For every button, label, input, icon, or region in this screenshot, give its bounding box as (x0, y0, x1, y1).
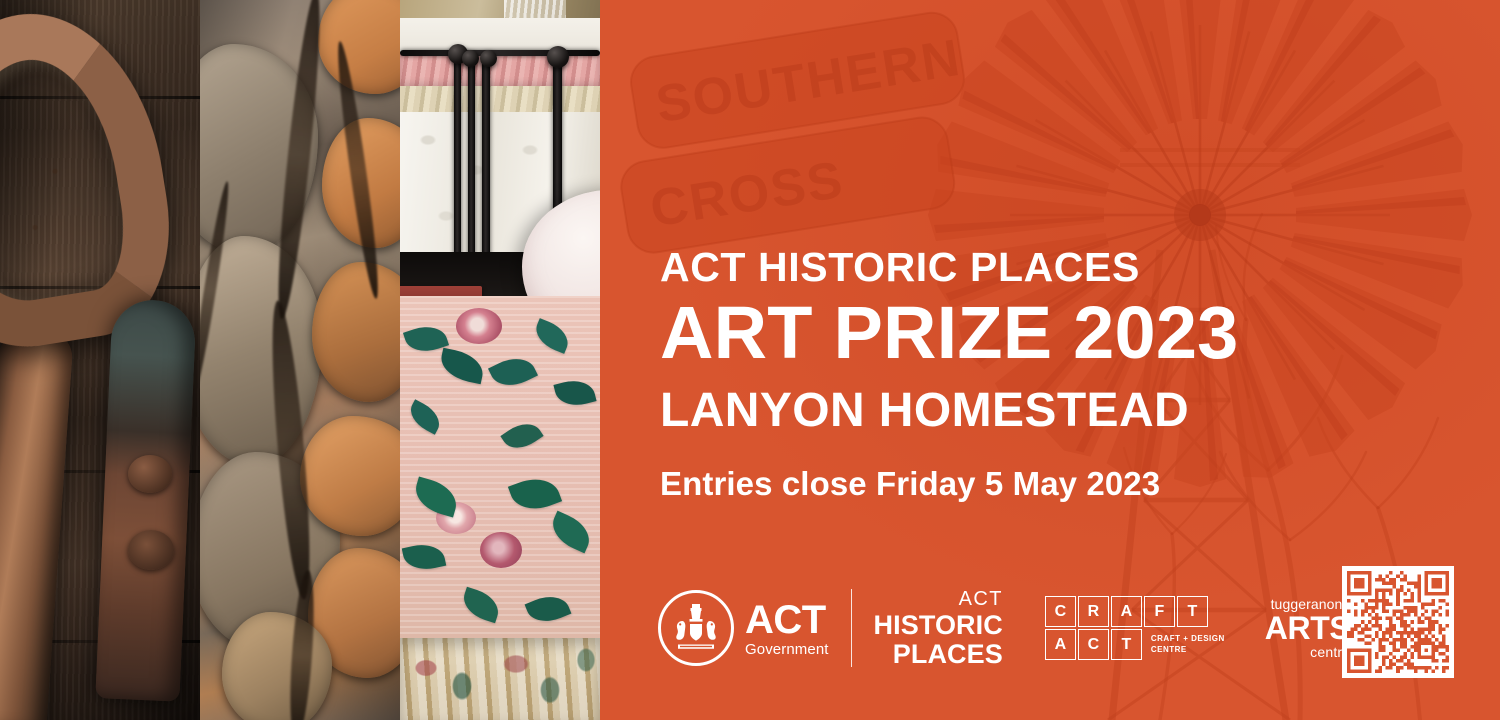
craft-letter-row-1: C R A F T (1045, 596, 1225, 627)
cream-satin-bolster (400, 86, 600, 114)
chintz-rose (480, 532, 522, 568)
act-letter-a: A (1045, 629, 1076, 660)
tool-shank (0, 328, 74, 720)
photo-strip (0, 0, 600, 720)
craft-tagline-line-1: CRAFT + DESIGN (1151, 634, 1225, 645)
bed-finial (547, 46, 569, 68)
photo-rusty-hook-on-weathered-wood (0, 0, 200, 720)
chintz-leaf (531, 318, 573, 354)
craft-letter-r: R (1078, 596, 1109, 627)
government-subtitle-text: Government (745, 642, 829, 657)
chintz-leaf (488, 350, 538, 394)
craft-letter-a: A (1111, 596, 1142, 627)
deadline-text: Entries close Friday 5 May 2023 (660, 466, 1360, 502)
chintz-leaf (553, 376, 596, 410)
craft-letter-row-2: A C T CRAFT + DESIGN CENTRE (1045, 629, 1225, 660)
craft-act-logo[interactable]: C R A F T A C T CRAFT + DESIGN CENTRE (1045, 596, 1225, 660)
chintz-leaf (411, 477, 462, 518)
tool-blade (95, 298, 196, 701)
tac-wordmark: tuggeranong ARTS centre (1265, 597, 1351, 659)
content-panel: SOUTHERN CROSS ACT HISTORIC PLACES ART P… (600, 0, 1500, 720)
chintz-leaf (402, 540, 447, 574)
chintz-leaf (500, 416, 543, 456)
tac-line-centre: centre (1265, 645, 1351, 659)
bed-finial (480, 50, 497, 67)
tac-line-arts: ARTS (1265, 612, 1351, 644)
bed-finial (462, 50, 479, 67)
craft-letter-t: T (1177, 596, 1208, 627)
qr-code[interactable] (1342, 566, 1454, 678)
act-historic-places-logo[interactable]: ACT HISTORIC PLACES (874, 589, 1003, 668)
chintz-leaf (405, 399, 445, 434)
act-letter-t: T (1111, 629, 1142, 660)
ahp-line-historic: HISTORIC (874, 612, 1003, 639)
chintz-leaf (459, 587, 503, 623)
bark-plate (312, 262, 400, 402)
headline-block: ACT HISTORIC PLACES ART PRIZE 2023 LANYO… (660, 246, 1360, 502)
title-art-prize: ART PRIZE 2023 (660, 293, 1360, 373)
act-wordmark-text: ACT (745, 600, 829, 640)
craft-letter-f: F (1144, 596, 1175, 627)
tool-rivet (128, 530, 174, 570)
chintz-leaf (438, 348, 487, 385)
photo-historic-bedroom (400, 0, 600, 720)
bark-plate (222, 612, 332, 720)
pink-satin-bolster (400, 52, 600, 88)
craft-letter-c: C (1045, 596, 1076, 627)
act-government-logo[interactable]: ACT Government (658, 586, 829, 670)
act-letter-c: C (1078, 629, 1109, 660)
chintz-leaf (546, 511, 596, 554)
craft-tagline-line-2: CENTRE (1151, 645, 1225, 656)
photo-pine-bark-texture (200, 0, 400, 720)
act-government-wordmark: ACT Government (745, 600, 829, 657)
eyebrow-act-historic-places: ACT HISTORIC PLACES (660, 246, 1360, 289)
chintz-rose (456, 308, 502, 344)
chintz-leaf (525, 589, 572, 628)
logo-divider (851, 589, 852, 667)
bed-rail-horizontal (400, 50, 600, 56)
tool-rivet (128, 455, 172, 493)
bark-plate (318, 0, 400, 94)
ahp-line-act: ACT (874, 589, 1003, 609)
craft-act-tagline: CRAFT + DESIGN CENTRE (1151, 634, 1225, 656)
bedspread-frill-pattern (400, 638, 600, 720)
venue-lanyon-homestead: LANYON HOMESTEAD (660, 385, 1360, 438)
act-coat-of-arms-icon (658, 590, 734, 666)
ahp-line-places: PLACES (874, 641, 1003, 668)
chintz-leaf (508, 471, 562, 517)
tac-line-tuggeranong: tuggeranong (1265, 597, 1351, 611)
art-prize-banner: SOUTHERN CROSS ACT HISTORIC PLACES ART P… (0, 0, 1500, 720)
